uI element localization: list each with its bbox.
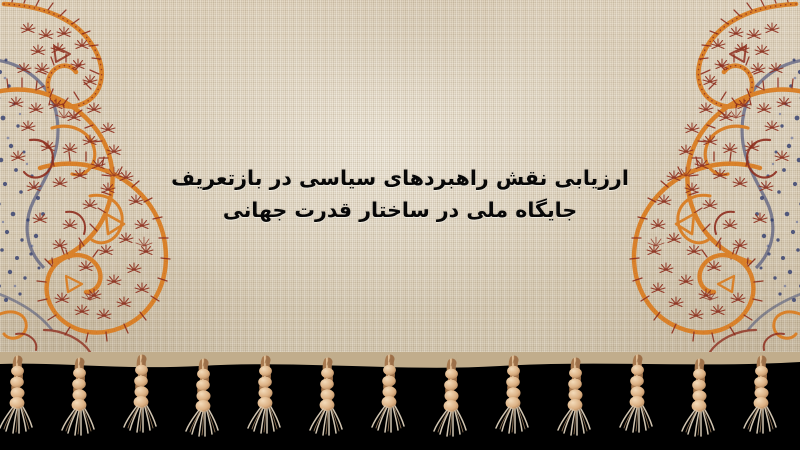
title-line-1: ارزیابی نقش راهبردهای سیاسی در بازتعریف <box>150 163 650 194</box>
title-line-2: جایگاه ملی در ساختار قدرت جهانی <box>150 195 650 226</box>
frond-fill <box>9 23 153 319</box>
tassel-fringe <box>0 352 800 450</box>
title-card-canvas: ارزیابی نقش راهبردهای سیاسی در بازتعریف … <box>0 0 800 450</box>
page-title: ارزیابی نقش راهبردهای سیاسی در بازتعریف … <box>150 163 650 226</box>
